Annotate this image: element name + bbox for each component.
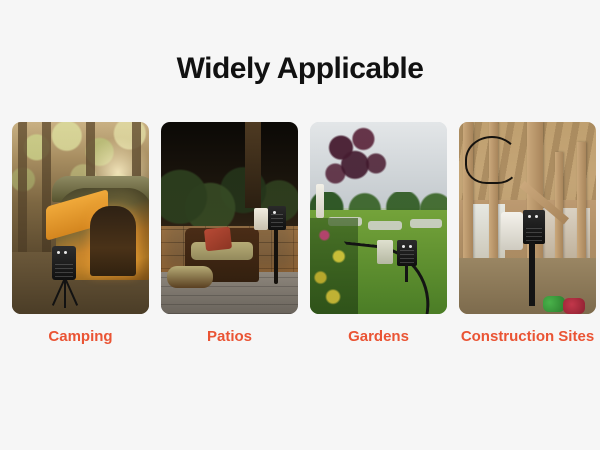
device-led-icon — [57, 251, 60, 254]
green-bag — [543, 296, 565, 312]
camping-image — [12, 122, 149, 314]
light-panel — [377, 240, 393, 264]
device-vent-grid — [526, 227, 542, 241]
category-card-patios[interactable]: Patios — [161, 122, 298, 347]
category-card-gardens[interactable]: Gardens — [310, 122, 447, 347]
stepping-stone — [368, 221, 402, 230]
card-label-construction-sites: Construction Sites — [459, 328, 596, 347]
device-vent-grid — [271, 213, 283, 227]
promo-page: Widely Applicable — [0, 0, 600, 450]
tent-door — [90, 206, 136, 276]
ottoman — [167, 266, 213, 288]
red-throw-pillow — [204, 227, 232, 252]
portable-power-device — [397, 240, 417, 266]
stepping-stone — [410, 219, 442, 228]
category-card-camping[interactable]: Camping — [12, 122, 149, 347]
device-vent-grid — [400, 249, 414, 263]
hanging-wire — [465, 136, 519, 184]
patios-image — [161, 122, 298, 314]
purple-leaf-tree — [320, 126, 390, 198]
gardens-image — [310, 122, 447, 314]
device-led-icon — [64, 251, 67, 254]
light-panel — [254, 208, 268, 230]
tree-trunk — [245, 122, 261, 208]
portable-power-device — [52, 246, 76, 280]
device-vent-grid — [55, 263, 73, 277]
card-label-camping: Camping — [12, 328, 149, 347]
construction-sites-image — [459, 122, 596, 314]
tree-trunk — [18, 122, 27, 272]
portable-power-device — [268, 206, 286, 230]
card-label-gardens: Gardens — [310, 328, 447, 347]
page-title: Widely Applicable — [0, 0, 600, 85]
card-label-patios: Patios — [161, 328, 298, 347]
device-led-icon — [535, 215, 538, 218]
ground-stake — [405, 264, 408, 282]
portable-power-device — [523, 210, 545, 244]
device-led-icon — [402, 245, 405, 248]
mounting-post — [529, 242, 535, 306]
garden-bollard-light — [316, 184, 324, 218]
category-cards-row: Camping Patios — [0, 122, 600, 347]
device-led-icon — [528, 215, 531, 218]
device-led-icon — [409, 245, 412, 248]
tripod-stand — [48, 278, 82, 308]
red-bag — [563, 298, 585, 314]
category-card-construction-sites[interactable]: Construction Sites — [459, 122, 596, 347]
light-panel — [501, 212, 523, 250]
